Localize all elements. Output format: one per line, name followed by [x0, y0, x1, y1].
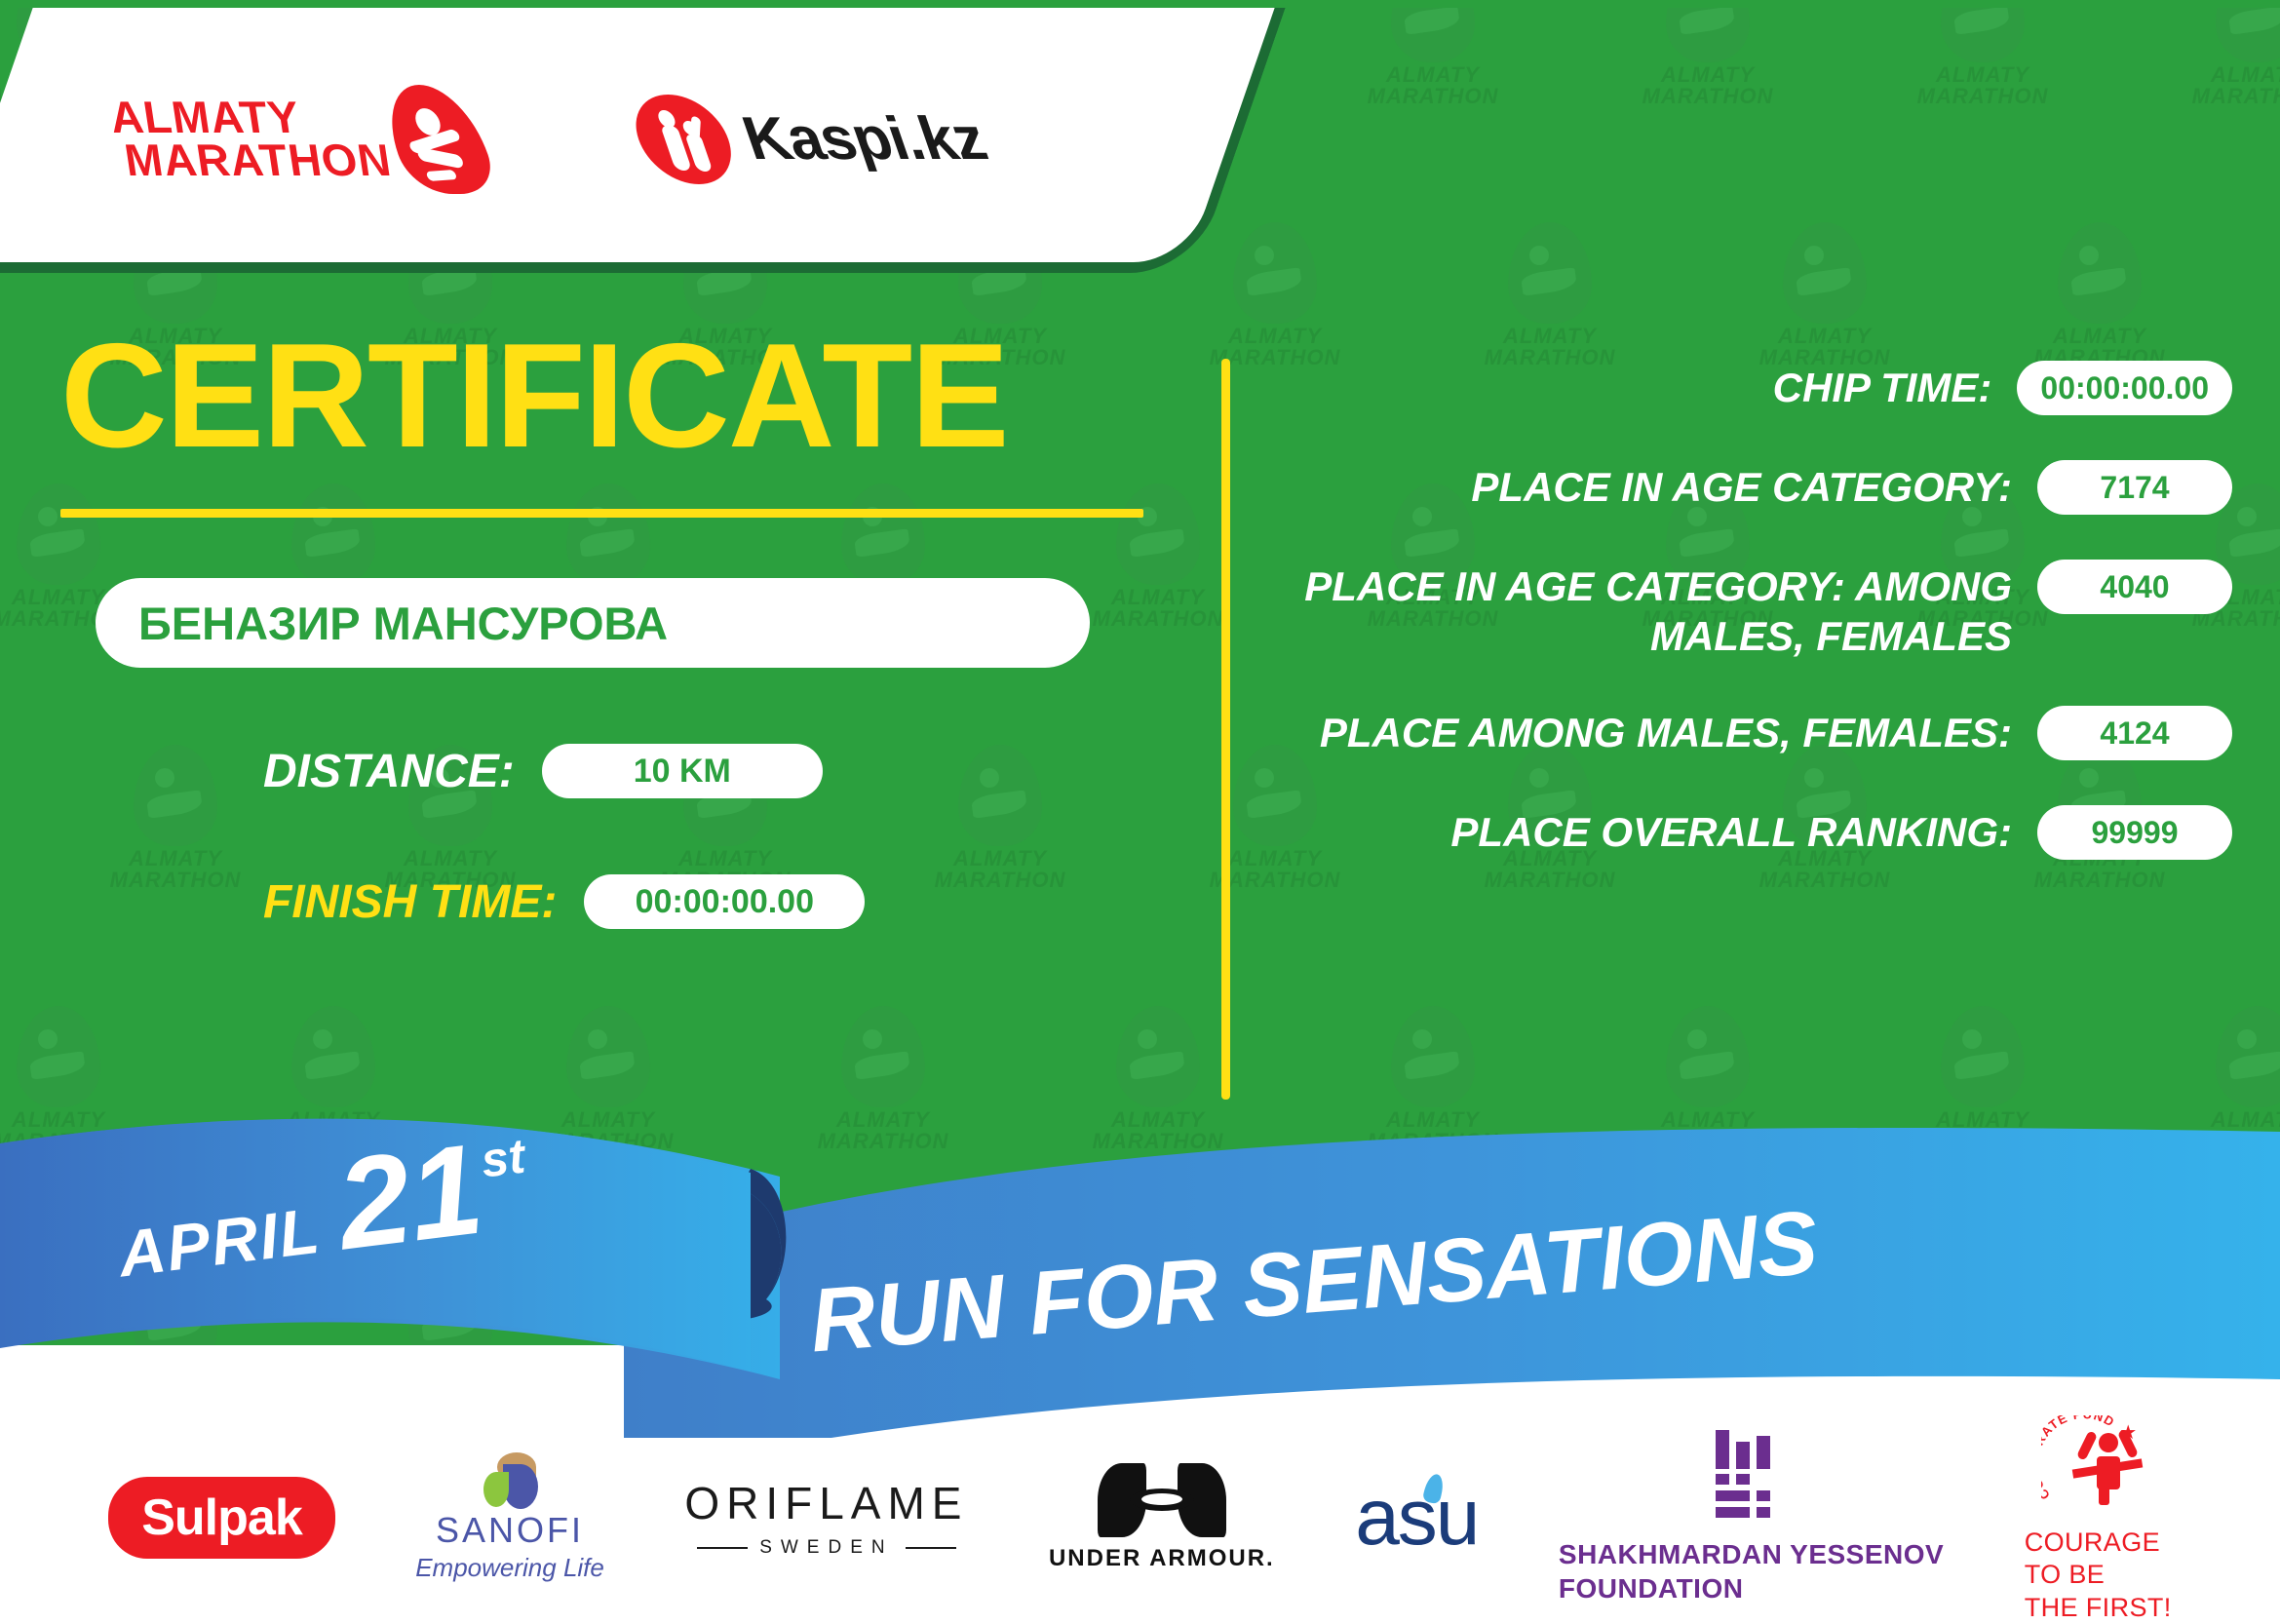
participant-name-field: БЕНАЗИР МАНСУРОВА: [96, 578, 1090, 668]
header-logos: ALMATY MARATHON Kaspi.kz: [0, 0, 1300, 278]
participant-name: БЕНАЗИР МАНСУРОВА: [138, 597, 668, 650]
courage-line3: THE FIRST!: [2025, 1592, 2172, 1624]
sponsor-sanofi: SANOFI Empowering Life: [415, 1452, 604, 1583]
almaty-marathon-line2: MARATHON: [117, 139, 398, 182]
finish-time-label: FINISH TIME:: [263, 875, 557, 929]
almaty-marathon-line1: ALMATY: [102, 97, 383, 139]
place-age-category-value: 7174: [2037, 460, 2232, 515]
watermark-tile: ALMATYMARATHON: [2002, 222, 2197, 368]
place-age-category-gender-label: PLACE IN AGE CATEGORY: AMONG MALES, FEMA…: [1267, 560, 2037, 661]
kaspi-people-icon: [623, 95, 744, 184]
oriflame-rule-right: [906, 1547, 956, 1549]
sponsor-asu: asu: [1355, 1472, 1478, 1564]
place-age-category-row: PLACE IN AGE CATEGORY: 7174: [1267, 460, 2232, 515]
place-overall-row: PLACE OVERALL RANKING: 99999: [1267, 805, 2232, 860]
sponsor-bar: Sulpak SANOFI Empowering Life ORIFLAME S…: [0, 1423, 2280, 1612]
place-age-category-gender-row: PLACE IN AGE CATEGORY: AMONG MALES, FEMA…: [1267, 560, 2232, 661]
finish-time-value: 00:00:00.00: [584, 874, 865, 929]
sponsor-under-armour: UNDER ARMOUR.: [1049, 1463, 1275, 1572]
yessenov-wordmark: SHAKHMARDAN YESSENOV FOUNDATION: [1559, 1537, 1944, 1605]
sponsor-courage-fund: CORPORATE FUND ★ COURAGE TO BE THE FIRST…: [2025, 1411, 2172, 1624]
under-armour-wordmark: UNDER ARMOUR.: [1049, 1545, 1275, 1572]
chip-time-label: CHIP TIME:: [1267, 361, 2017, 412]
chip-time-row: CHIP TIME: 00:00:00.00: [1267, 361, 2232, 415]
ribbon-day: 21: [332, 1134, 487, 1259]
place-overall-label: PLACE OVERALL RANKING:: [1267, 805, 2037, 857]
sulpak-wordmark: Sulpak: [141, 1489, 302, 1547]
kaspi-logo: Kaspi.kz: [623, 95, 998, 184]
top-green-strip: [0, 0, 2280, 8]
asu-text: asu: [1355, 1473, 1478, 1562]
watermark-tile: ALMATYMARATHON: [2160, 0, 2280, 107]
kaspi-wordmark: Kaspi.kz: [734, 104, 995, 174]
certificate-left-column: CERTIFICATE БЕНАЗИР МАНСУРОВА DISTANCE: …: [0, 322, 1204, 929]
courage-fund-wordmark: COURAGE TO BE THE FIRST!: [2025, 1527, 2172, 1624]
place-among-gender-value: 4124: [2037, 706, 2232, 760]
sponsor-sulpak: Sulpak: [108, 1477, 335, 1559]
yessenov-foundation-icon: [1716, 1430, 1788, 1518]
watermark-tile: ALMATYMARATHON: [1610, 0, 1805, 107]
finish-time-row: FINISH TIME: 00:00:00.00: [263, 874, 1204, 929]
sanofi-logo-icon: [474, 1452, 546, 1507]
column-divider: [1221, 359, 1230, 1100]
under-armour-icon: [1098, 1463, 1226, 1537]
asu-wordmark: asu: [1355, 1472, 1478, 1564]
chip-time-value: 00:00:00.00: [2017, 361, 2232, 415]
certificate-canvas: ALMATYMARATHONALMATYMARATHONALMATYMARATH…: [0, 0, 2280, 1612]
watermark-tile: ALMATYMARATHON: [1452, 222, 1647, 368]
watermark-tile: ALMATYMARATHON: [1727, 222, 1922, 368]
courage-line1: COURAGE: [2025, 1527, 2172, 1559]
oriflame-wordmark: ORIFLAME: [684, 1477, 968, 1529]
place-among-gender-row: PLACE AMONG MALES, FEMALES: 4124: [1267, 706, 2232, 760]
watermark-tile: ALMATYMARATHON: [1885, 0, 2080, 107]
watermark-tile: ALMATYMARATHON: [1335, 0, 1530, 107]
oriflame-rule-left: [697, 1547, 748, 1549]
distance-label: DISTANCE:: [263, 745, 515, 798]
courage-line2: TO BE: [2025, 1559, 2172, 1591]
event-ribbon: APRIL 21 st RUN FOR SENSATIONS: [0, 1087, 2280, 1438]
page-title: CERTIFICATE: [0, 322, 1204, 470]
sponsor-oriflame: ORIFLAME SWEDEN: [684, 1477, 968, 1559]
distance-value: 10 KM: [542, 744, 823, 798]
ribbon-day-suffix: st: [478, 1128, 527, 1189]
yessenov-line1: SHAKHMARDAN YESSENOV: [1559, 1537, 1944, 1571]
courage-fund-icon: CORPORATE FUND ★: [2047, 1411, 2148, 1513]
results-column: CHIP TIME: 00:00:00.00 PLACE IN AGE CATE…: [1267, 361, 2232, 905]
place-overall-value: 99999: [2037, 805, 2232, 860]
place-age-category-gender-value: 4040: [2037, 560, 2232, 614]
title-underline: [60, 509, 1143, 518]
almaty-marathon-logo: ALMATY MARATHON: [98, 85, 501, 194]
courage-runner-icon: ★: [2080, 1425, 2135, 1507]
yessenov-line2: FOUNDATION: [1559, 1571, 1944, 1605]
sanofi-wordmark: SANOFI: [436, 1510, 584, 1551]
sponsor-yessenov-foundation: SHAKHMARDAN YESSENOV FOUNDATION: [1559, 1430, 1944, 1605]
place-among-gender-label: PLACE AMONG MALES, FEMALES:: [1267, 706, 2037, 757]
distance-row: DISTANCE: 10 KM: [263, 744, 1204, 798]
oriflame-subtitle: SWEDEN: [759, 1537, 893, 1559]
sanofi-tagline: Empowering Life: [415, 1553, 604, 1583]
place-age-category-label: PLACE IN AGE CATEGORY:: [1267, 460, 2037, 512]
